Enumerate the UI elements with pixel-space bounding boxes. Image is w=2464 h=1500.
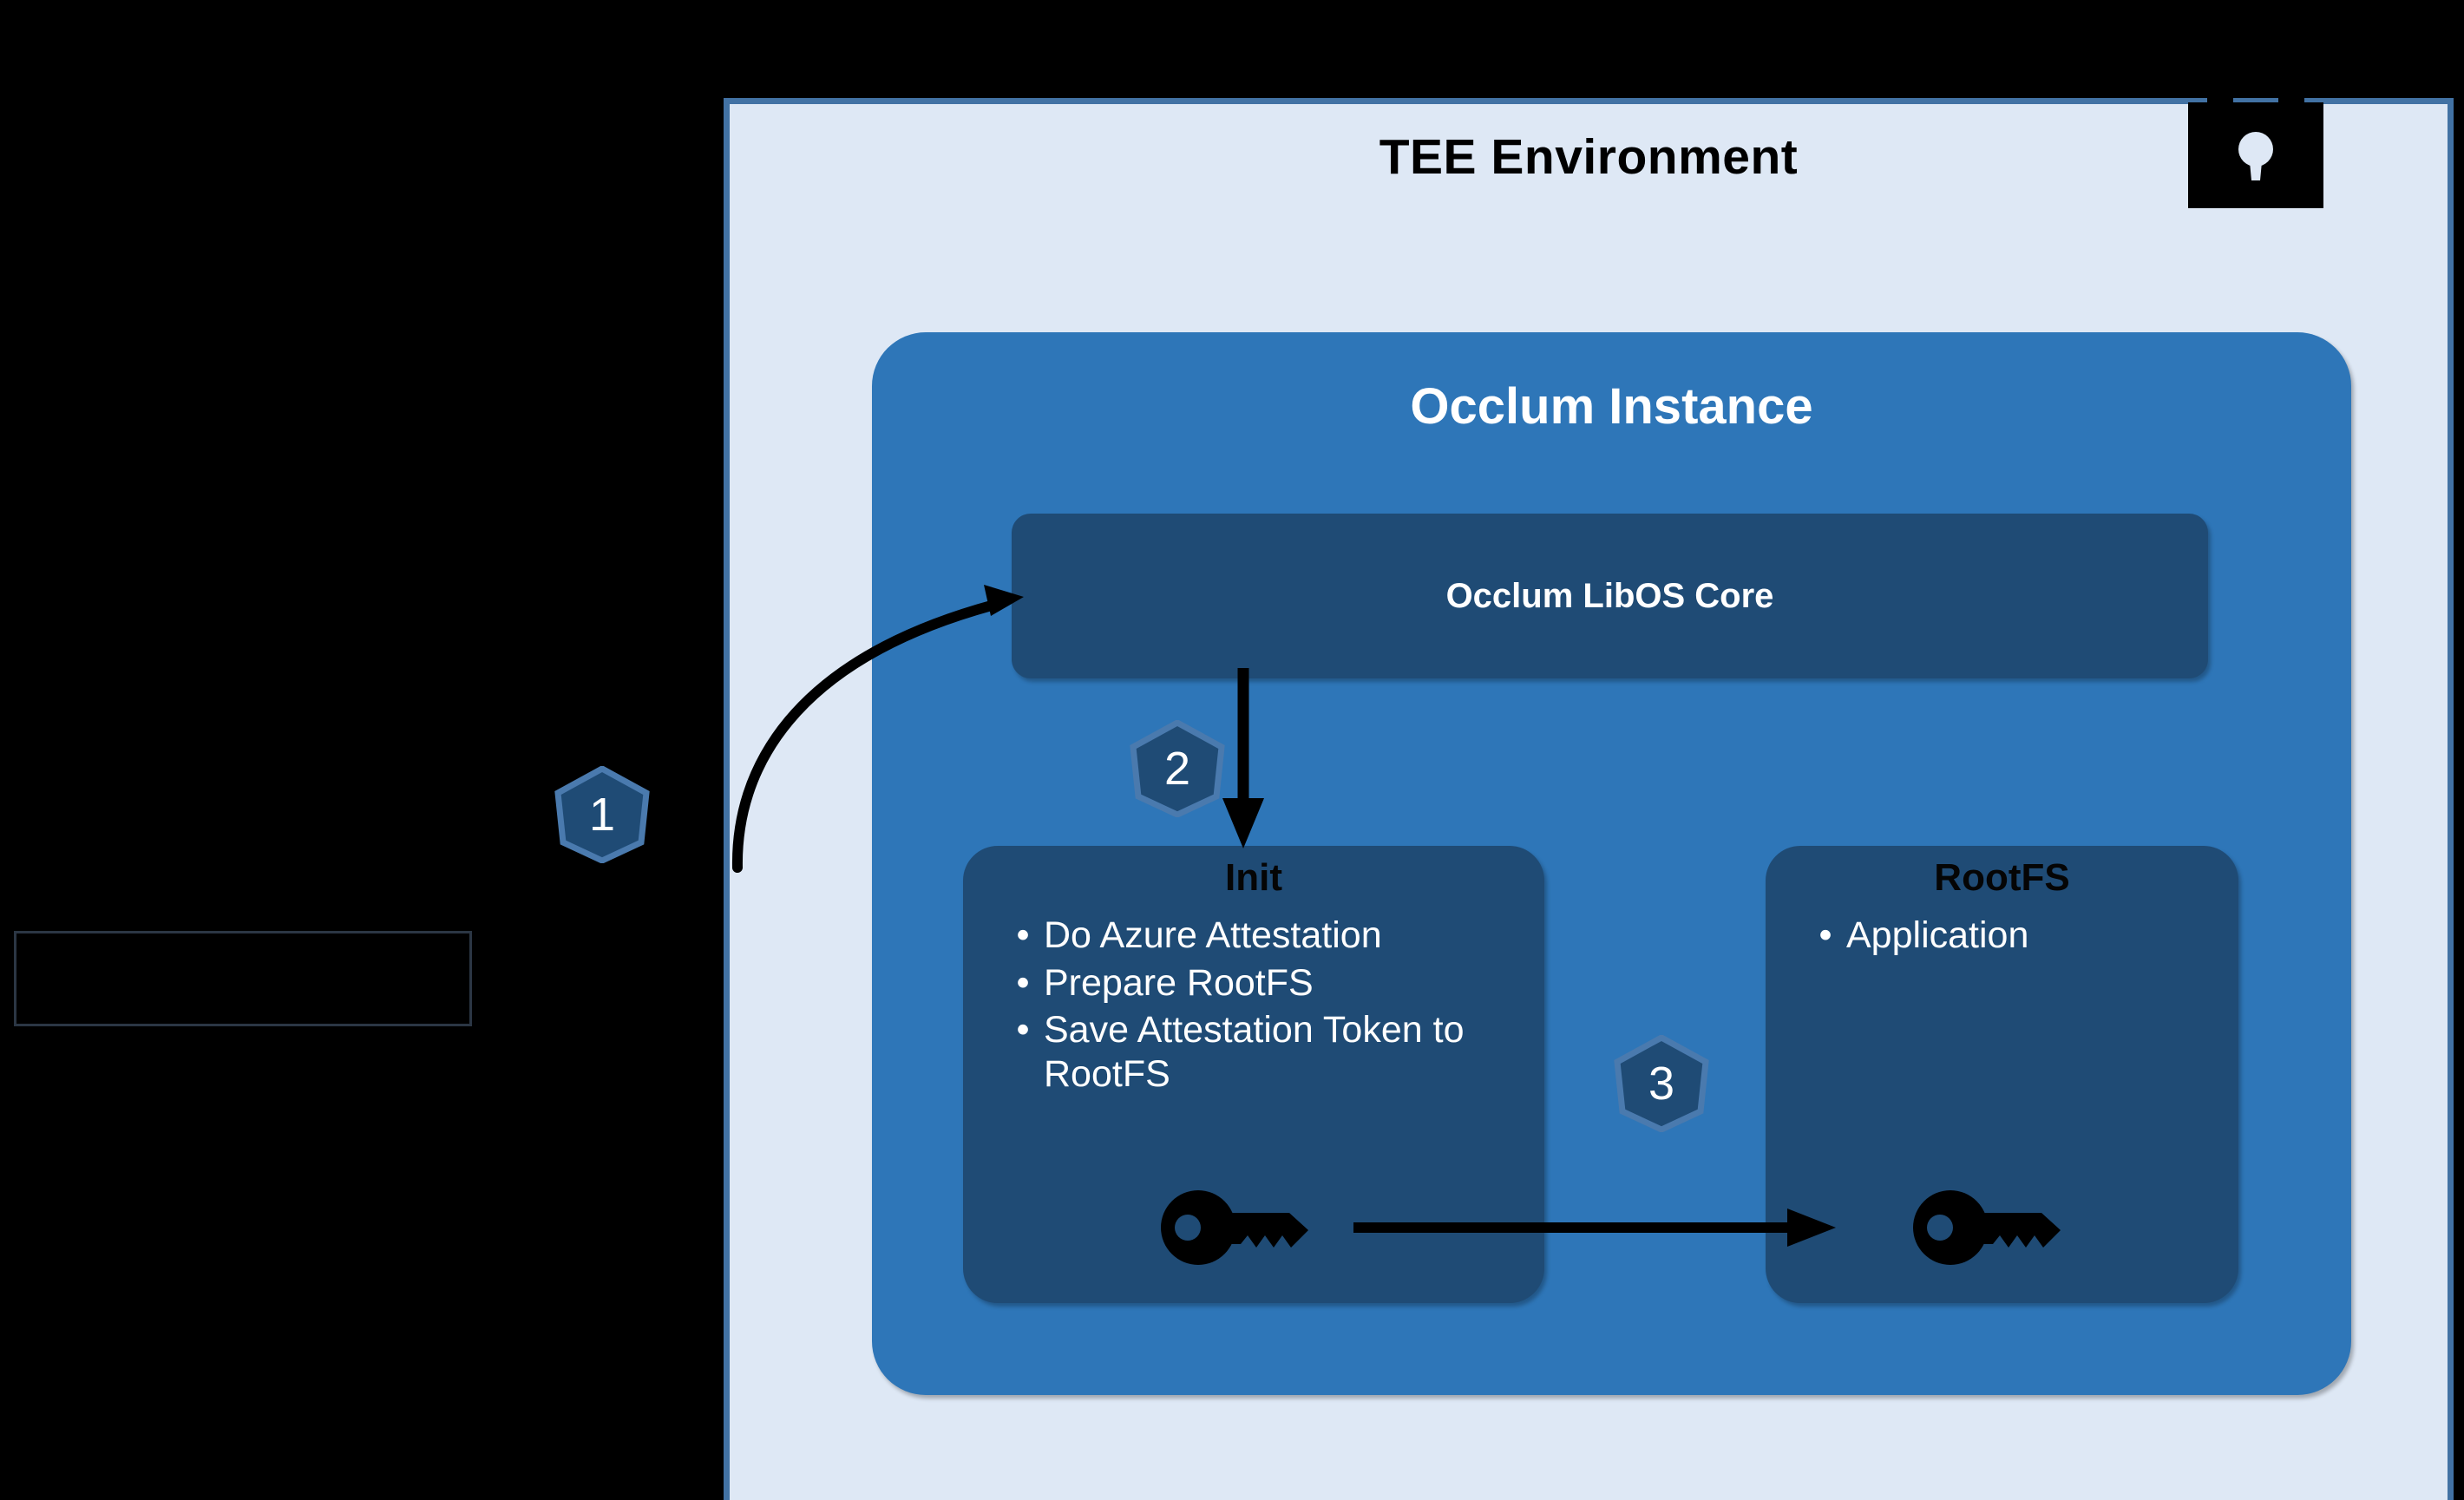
occlum-libos-core-box: Occlum LibOS Core — [1012, 514, 2208, 678]
bullet-icon: • — [1002, 961, 1044, 1005]
list-item-label: Save Attestation Token to RootFS — [1044, 1008, 1514, 1096]
list-item: • Do Azure Attestation — [1002, 914, 1514, 958]
step-badge-3: 3 — [1609, 1035, 1714, 1132]
list-item: • Save Attestation Token to RootFS — [1002, 1008, 1514, 1096]
occlum-instance-title: Occlum Instance — [872, 377, 2351, 436]
step-badge-2: 2 — [1125, 720, 1229, 817]
bullet-icon: • — [1002, 914, 1044, 958]
arrow-curved-into-libos-core — [711, 555, 1058, 868]
key-icon — [1161, 1190, 1317, 1265]
list-item: • Prepare RootFS — [1002, 961, 1514, 1005]
key-icon — [1913, 1190, 2069, 1265]
bullet-icon: • — [1002, 1008, 1044, 1052]
padlock-icon — [2169, 69, 2343, 243]
list-item-label: Prepare RootFS — [1044, 961, 1514, 1005]
init-bullet-list: • Do Azure Attestation • Prepare RootFS … — [1002, 914, 1514, 1100]
left-placeholder-box — [14, 931, 472, 1026]
occlum-libos-core-label: Occlum LibOS Core — [1012, 514, 2208, 678]
rootfs-bullet-list: • Application — [1805, 914, 2212, 961]
bullet-icon: • — [1805, 914, 1846, 958]
list-item-label: Do Azure Attestation — [1044, 914, 1514, 958]
arrow-libos-core-to-init — [1215, 668, 1319, 850]
step-badge-1: 1 — [550, 766, 654, 863]
arrow-init-to-rootfs — [1353, 1206, 1839, 1249]
list-item-label: Application — [1846, 914, 2212, 958]
list-item: • Application — [1805, 914, 2212, 958]
rootfs-title: RootFS — [1766, 856, 2238, 900]
